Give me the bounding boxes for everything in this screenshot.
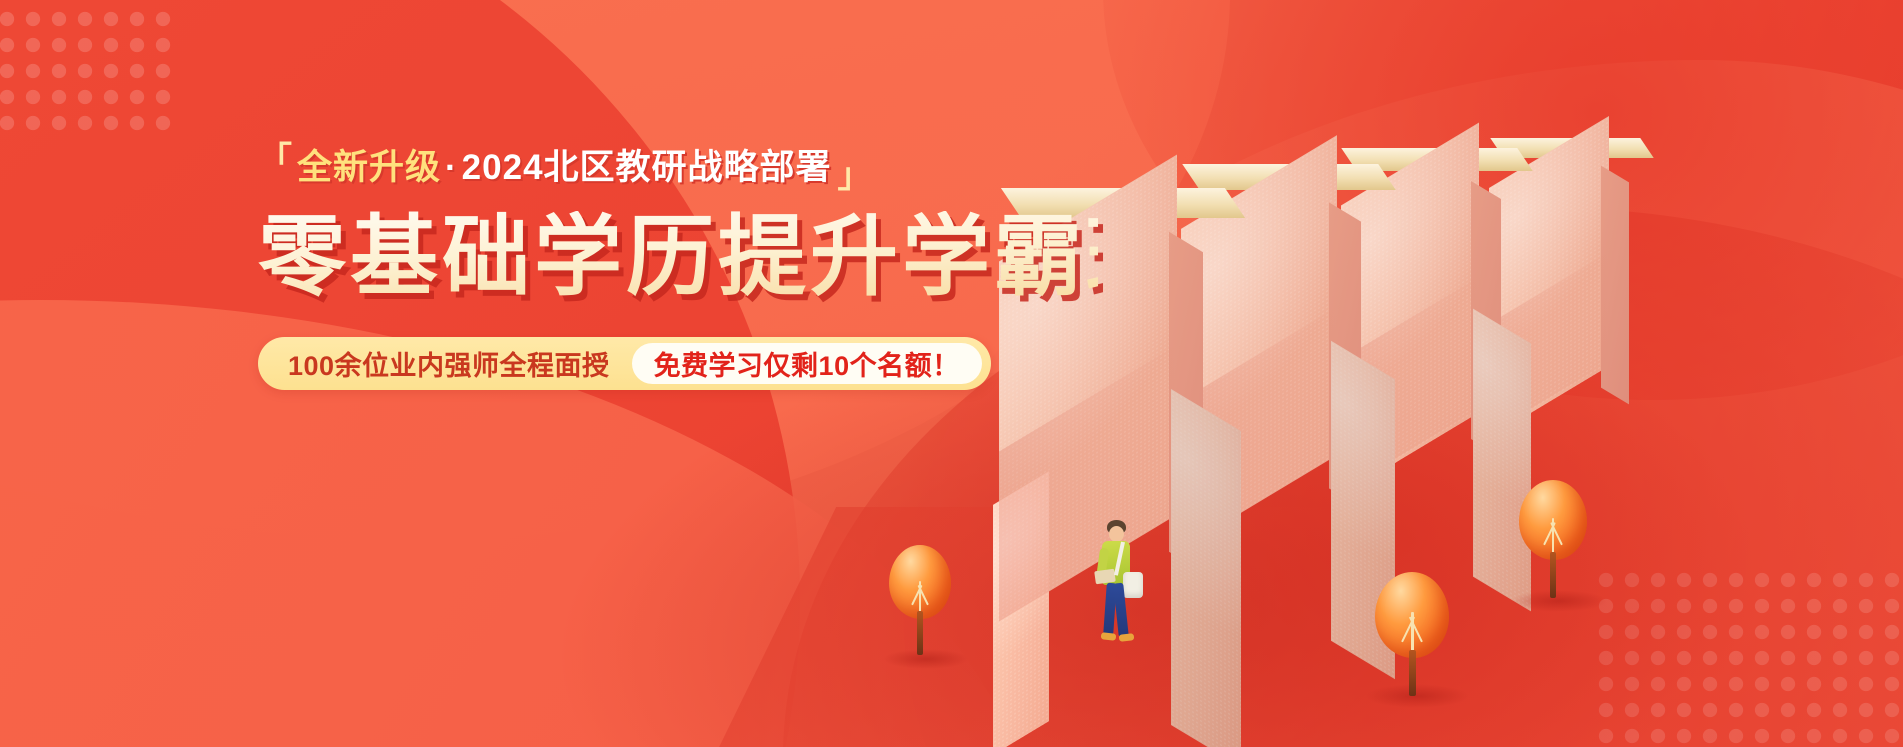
bracket-open-icon: 「 (258, 143, 293, 177)
person-head (1109, 526, 1124, 542)
promo-pill[interactable]: 100余位业内强师全程面授 免费学习仅剩10个名额！ (258, 337, 991, 390)
tree-1-trunk (917, 611, 923, 655)
tree-1 (889, 545, 959, 670)
tree-1-shadow (883, 649, 969, 669)
eyebrow-white-text: 2024北区教研战略部署 (460, 150, 834, 185)
student-figure (1085, 520, 1155, 660)
copy-block: 「 全新升级 · 2024北区教研战略部署 」 零基础学历提升学霸班 100余位… (258, 150, 1098, 390)
book-leg-1 (1171, 389, 1241, 747)
person-shoe-right (1119, 633, 1135, 642)
tree-3-shadow (1365, 684, 1469, 708)
tree-2-shadow (1511, 590, 1607, 612)
eyebrow-gold-text: 全新升级 (295, 150, 443, 185)
eyebrow-separator: · (443, 150, 460, 185)
tree-2 (1519, 480, 1595, 615)
promo-pill-label: 100余位业内强师全程面授 (288, 344, 632, 383)
tree-3 (1375, 572, 1455, 712)
bracket-close-icon: 」 (838, 159, 873, 193)
person-bag (1123, 572, 1143, 598)
person-book (1094, 569, 1116, 585)
person-shoe-left (1101, 632, 1117, 641)
page-title: 零基础学历提升学霸班 (258, 211, 1098, 303)
dot-grid-top-left (0, 6, 176, 136)
promo-banner: 「 全新升级 · 2024北区教研战略部署 」 零基础学历提升学霸班 100余位… (0, 0, 1903, 747)
eyebrow-line: 「 全新升级 · 2024北区教研战略部署 」 (258, 150, 1098, 185)
seats-remaining-badge: 免费学习仅剩10个名额！ (632, 343, 982, 384)
tree-2-trunk (1550, 552, 1556, 598)
tree-3-trunk (1409, 650, 1416, 696)
